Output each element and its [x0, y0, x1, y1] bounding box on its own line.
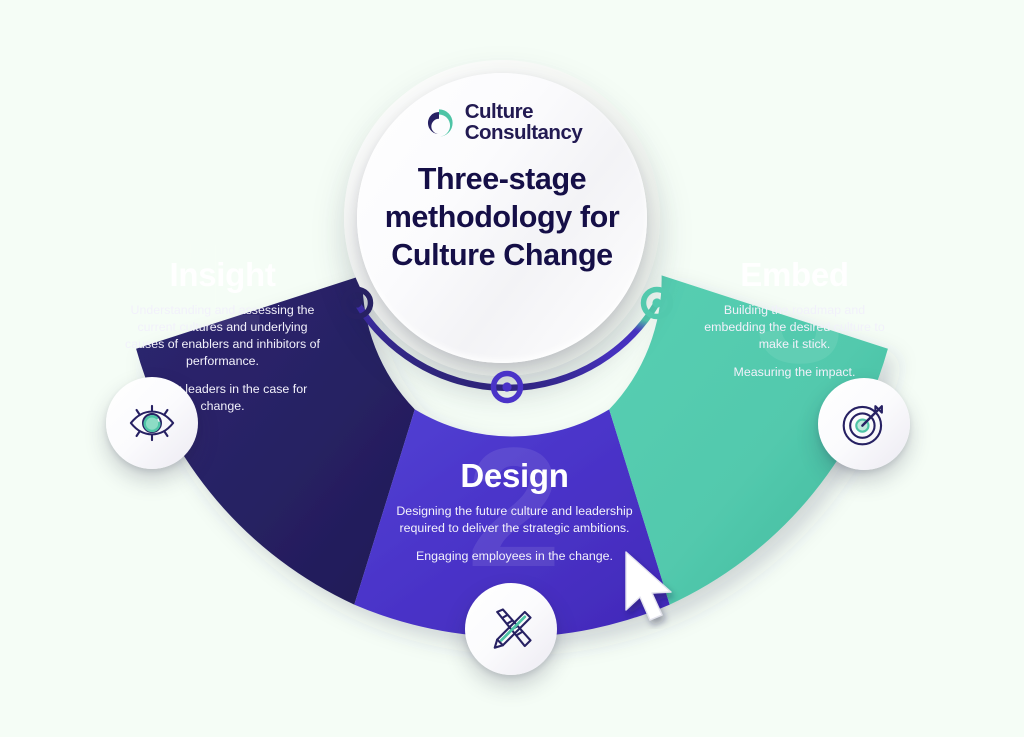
mouse-cursor-icon: [620, 549, 682, 629]
target-arrow-icon: [838, 398, 890, 450]
infographic-canvas: 1 2 3 Culture Consultancy: [0, 0, 1024, 737]
stage-badge-design[interactable]: [465, 583, 557, 675]
stage-badge-embed[interactable]: [818, 378, 910, 470]
connector-node-middle[interactable]: [494, 374, 521, 401]
connector-node-left[interactable]: [344, 290, 371, 317]
ruler-pencil-icon: [485, 603, 537, 655]
connector-node-right[interactable]: [644, 290, 671, 317]
eye-icon: [126, 397, 178, 449]
stage-badge-insight[interactable]: [106, 377, 198, 469]
